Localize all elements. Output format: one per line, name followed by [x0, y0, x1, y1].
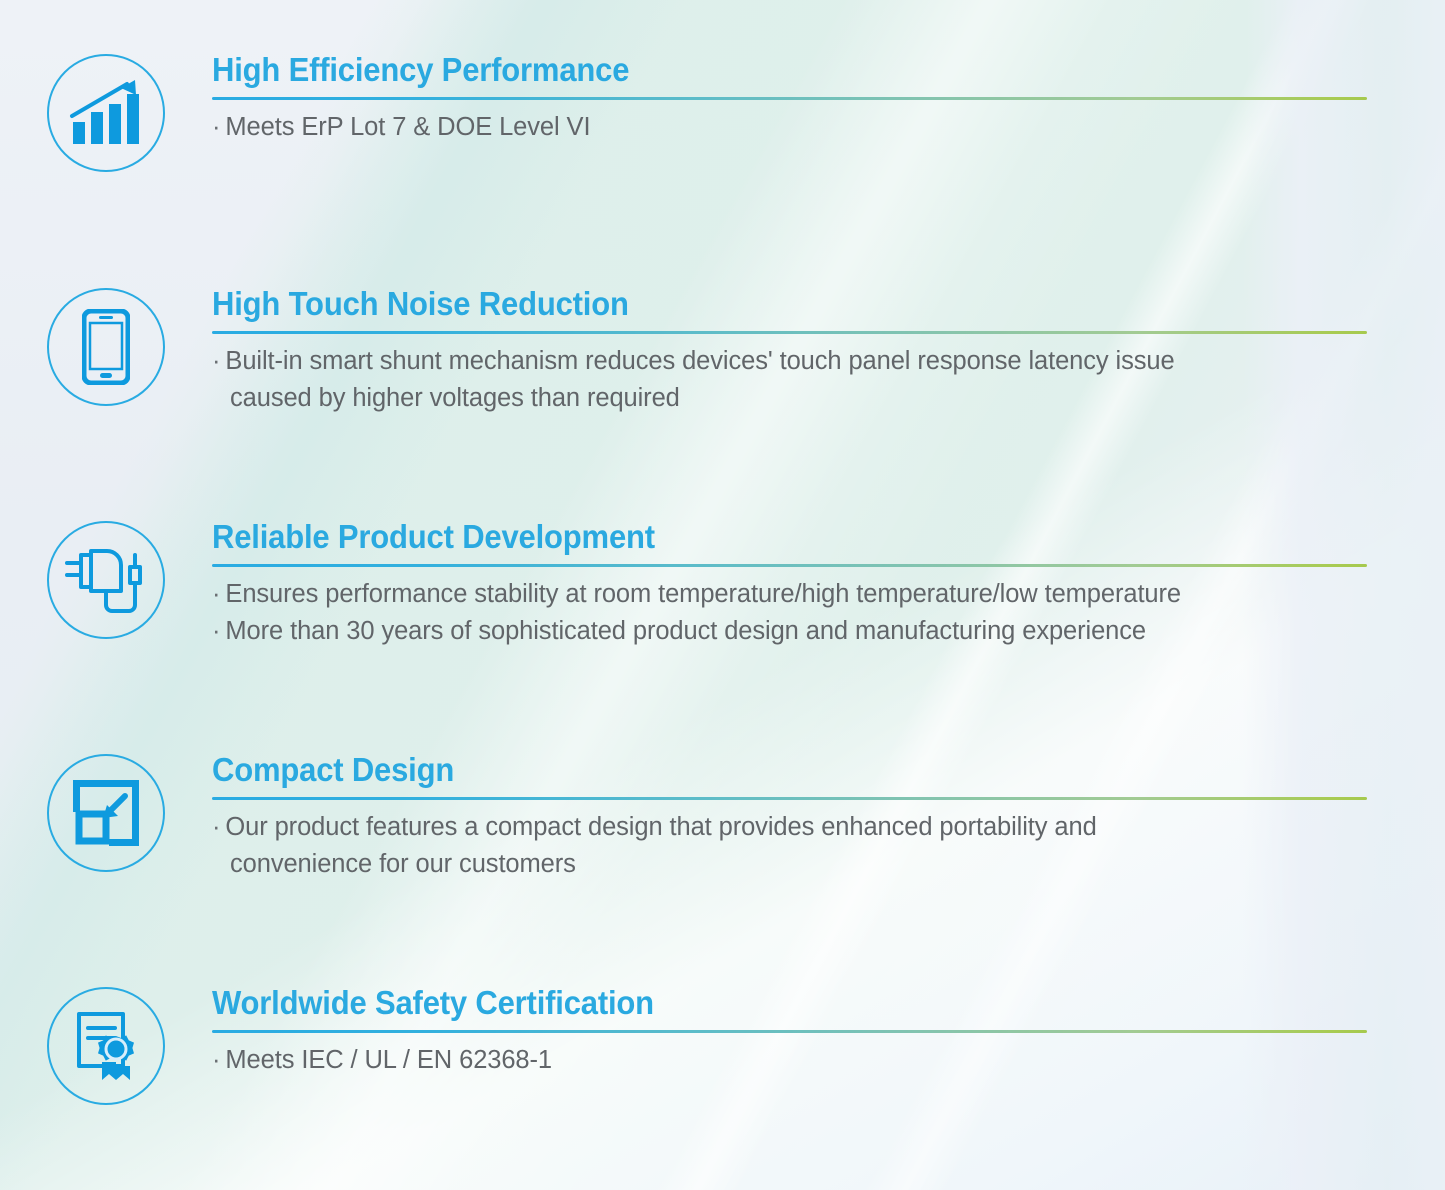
feature-title: High Efficiency Performance [212, 52, 1298, 88]
feature-text-container: Reliable Product Development ·Ensures pe… [212, 519, 1445, 650]
bullet-text: Built-in smart shunt mechanism reduces d… [225, 347, 1174, 375]
feature-bullet: ·Meets IEC / UL / EN 62368-1 [212, 1042, 1367, 1079]
feature-title: Compact Design [212, 752, 1298, 788]
bullet-marker: · [212, 580, 220, 608]
feature-item-high-efficiency-performance: High Efficiency Performance ·Meets ErP L… [0, 52, 1445, 172]
feature-icon-container [0, 752, 212, 872]
feature-divider [212, 564, 1367, 567]
feature-bullet: ·Our product features a compact design t… [212, 809, 1367, 883]
feature-title: Worldwide Safety Certification [212, 985, 1298, 1021]
feature-text-container: High Touch Noise Reduction ·Built-in sma… [212, 286, 1445, 417]
bullet-marker: · [212, 1046, 220, 1074]
feature-divider [212, 331, 1367, 334]
feature-bullet-list: ·Meets ErP Lot 7 & DOE Level VI [212, 109, 1367, 146]
feature-item-reliable-product-development: Reliable Product Development ·Ensures pe… [0, 519, 1445, 650]
certificate-award-icon [71, 1010, 141, 1082]
feature-item-high-touch-noise-reduction: High Touch Noise Reduction ·Built-in sma… [0, 286, 1445, 417]
icon-ring [47, 987, 165, 1105]
feature-text-container: Compact Design ·Our product features a c… [212, 752, 1445, 883]
feature-item-compact-design: Compact Design ·Our product features a c… [0, 752, 1445, 883]
bullet-marker: · [212, 113, 220, 141]
bullet-marker: · [212, 813, 220, 841]
feature-bullet-list: ·Ensures performance stability at room t… [212, 576, 1367, 650]
feature-icon-container [0, 985, 212, 1105]
feature-divider [212, 797, 1367, 800]
feature-text-container: High Efficiency Performance ·Meets ErP L… [212, 52, 1445, 146]
feature-bullet: ·Ensures performance stability at room t… [212, 576, 1367, 613]
bullet-text: Ensures performance stability at room te… [225, 580, 1181, 608]
feature-bullet-list: ·Built-in smart shunt mechanism reduces … [212, 343, 1367, 417]
feature-bullet: ·More than 30 years of sophisticated pro… [212, 613, 1367, 650]
feature-icon-container [0, 519, 212, 639]
feature-highlights-page: High Efficiency Performance ·Meets ErP L… [0, 0, 1445, 1190]
feature-text-container: Worldwide Safety Certification ·Meets IE… [212, 985, 1445, 1079]
feature-bullet: ·Built-in smart shunt mechanism reduces … [212, 343, 1367, 417]
smartphone-icon [82, 309, 130, 385]
icon-ring [47, 521, 165, 639]
bullet-marker: · [212, 617, 220, 645]
bullet-text: Our product features a compact design th… [225, 813, 1096, 841]
bullet-text-continued: caused by higher voltages than required [212, 380, 1367, 417]
feature-item-worldwide-safety-certification: Worldwide Safety Certification ·Meets IE… [0, 985, 1445, 1105]
bullet-text-continued: convenience for our customers [212, 846, 1367, 883]
feature-divider [212, 97, 1367, 100]
feature-title: High Touch Noise Reduction [212, 286, 1298, 322]
feature-icon-container [0, 52, 212, 172]
feature-divider [212, 1030, 1367, 1033]
feature-bullet-list: ·Our product features a compact design t… [212, 809, 1367, 883]
feature-title: Reliable Product Development [212, 519, 1298, 555]
bar-chart-growth-icon [69, 78, 143, 148]
bullet-text: Meets ErP Lot 7 & DOE Level VI [225, 113, 590, 141]
compact-resize-icon [73, 780, 139, 846]
bullet-text: More than 30 years of sophisticated prod… [225, 617, 1146, 645]
icon-ring [47, 54, 165, 172]
icon-ring [47, 754, 165, 872]
feature-bullet: ·Meets ErP Lot 7 & DOE Level VI [212, 109, 1367, 146]
feature-icon-container [0, 286, 212, 406]
feature-bullet-list: ·Meets IEC / UL / EN 62368-1 [212, 1042, 1367, 1079]
power-adapter-icon [65, 543, 147, 617]
bullet-text: Meets IEC / UL / EN 62368-1 [225, 1046, 552, 1074]
icon-ring [47, 288, 165, 406]
bullet-marker: · [212, 347, 220, 375]
